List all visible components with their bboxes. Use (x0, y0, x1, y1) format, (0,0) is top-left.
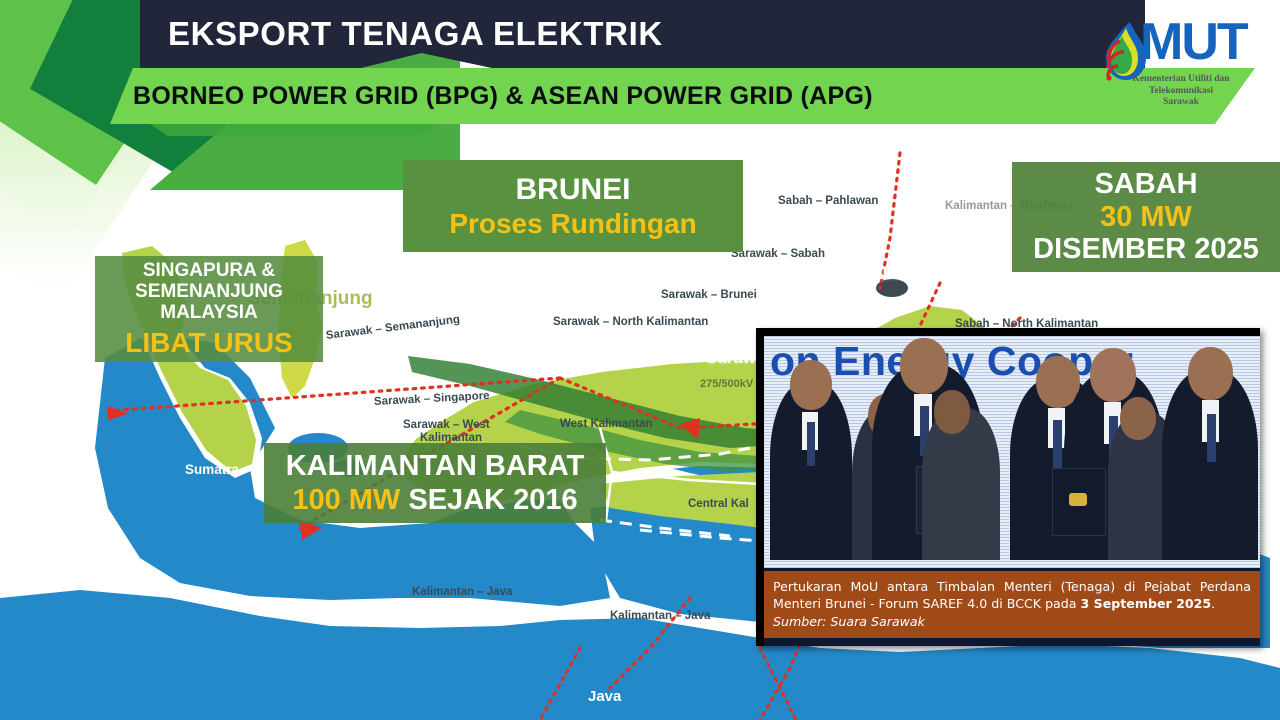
logo-subtitle: Kementerian Utiliti dan Telekomunikasi S… (1096, 74, 1266, 109)
header-green-shadow (150, 124, 440, 136)
page-subtitle: BORNEO POWER GRID (BPG) & ASEAN POWER GR… (133, 70, 1133, 122)
callout-kalbar-capacity: 100 MW (292, 484, 400, 516)
photo-caption-line-2: Menteri Brunei - Forum SAREF 4.0 di BCCK… (773, 595, 1251, 613)
photo-caption-line-2-a: Menteri Brunei - Forum SAREF 4.0 di BCCK… (773, 596, 1081, 611)
map-region-sumatra: Sumatra (185, 462, 239, 477)
map-voltage-label: 275/500kV (700, 378, 753, 390)
map-label-sarawak-sabah: Sarawak – Sabah (731, 248, 825, 260)
map-label-sarawak-west: Sarawak – West (403, 419, 490, 431)
callout-kalbar-since: SEJAK 2016 (408, 484, 577, 516)
map-region-west-kalimantan: West Kalimantan (560, 418, 652, 430)
callout-sabah-capacity: 30 MW (1100, 201, 1192, 233)
callout-kalimantan-barat: KALIMANTAN BARAT 100 MW SEJAK 2016 (264, 443, 606, 523)
callout-kalbar-detail: 100 MW SEJAK 2016 (292, 484, 577, 516)
map-region-sabah: Sabah (862, 264, 913, 284)
slide-root: Sabah – Pahlawan Kalimantan – Mindanao S… (0, 0, 1280, 720)
photo-caption: Pertukaran MoU antara Timbalan Menteri (… (764, 571, 1260, 639)
callout-singapura-line-3: MALAYSIA (160, 302, 257, 323)
page-title: EKSPORT TENAGA ELEKTRIK (168, 7, 1118, 61)
mut-logo: MUT Kementerian Utiliti dan Telekomunika… (1096, 12, 1266, 116)
callout-brunei: BRUNEI Proses Rundingan (403, 160, 743, 252)
callout-singapura: SINGAPURA & SEMENANJUNG MALAYSIA LIBAT U… (95, 256, 323, 362)
map-label-sarawak-brunei: Sarawak – Brunei (661, 289, 757, 301)
photo-caption-source: Sumber: Suara Sarawak (773, 613, 1251, 631)
callout-sabah-date: DISEMBER 2025 (1033, 233, 1259, 265)
map-region-java: Java (588, 688, 621, 705)
map-label-sabah-pahlawan: Sabah – Pahlawan (778, 195, 878, 207)
callout-brunei-status: Proses Rundingan (449, 208, 696, 239)
callout-singapura-line-2: SEMENANJUNG (135, 281, 283, 302)
logo-subtitle-line-1: Kementerian Utiliti dan (1096, 74, 1266, 86)
logo-wordmark: MUT (1140, 16, 1247, 68)
map-label-sarawak-north-kalimantan: Sarawak – North Kalimantan (553, 316, 708, 328)
logo-subtitle-line-3: Sarawak (1096, 97, 1266, 109)
callout-brunei-title: BRUNEI (515, 173, 630, 207)
photo-frame: on Energy Cooper (756, 328, 1260, 646)
logo-subtitle-line-2: Telekomunikasi (1096, 86, 1266, 98)
photo-caption-line-1: Pertukaran MoU antara Timbalan Menteri (… (773, 578, 1251, 596)
map-label-kalimantan-java-1: Kalimantan – Java (412, 586, 512, 598)
callout-kalbar-title: KALIMANTAN BARAT (286, 450, 585, 482)
photo-caption-date: 3 September 2025 (1081, 596, 1212, 611)
callout-singapura-status: LIBAT URUS (125, 327, 292, 358)
map-label-kalimantan-java-2: Kalimantan – Java (610, 610, 710, 622)
callout-singapura-line-1: SINGAPURA & (143, 260, 275, 281)
callout-sabah: SABAH 30 MW DISEMBER 2025 (1012, 162, 1280, 272)
map-region-central-kalimantan: Central Kal (688, 498, 749, 510)
photo-caption-line-2-c: . (1211, 596, 1215, 611)
callout-sabah-title: SABAH (1094, 168, 1197, 200)
photo-caption-source-text: Sumber: Suara Sarawak (773, 614, 925, 629)
